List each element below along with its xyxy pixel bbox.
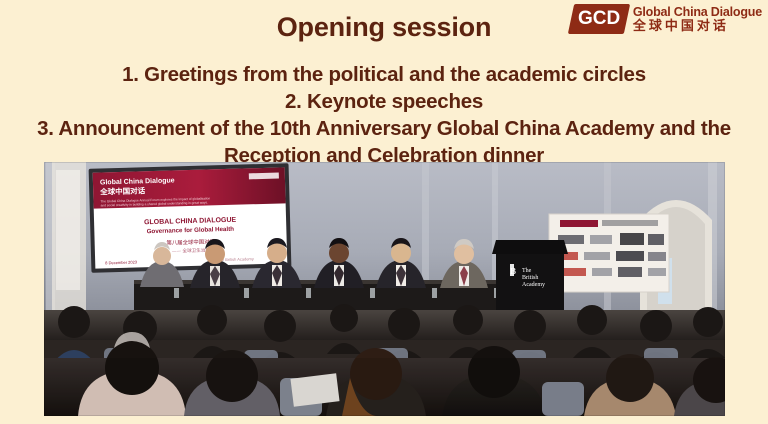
left-window-pane xyxy=(56,170,80,290)
conference-photograph: Global China Dialogue 全球中国对话 The Global … xyxy=(44,162,725,416)
agenda-item-2: 2. Keynote speeches xyxy=(0,89,768,116)
agenda-list: 1. Greetings from the political and the … xyxy=(0,62,768,169)
svg-text:The: The xyxy=(522,268,532,274)
photo-scene: Global China Dialogue 全球中国对话 The Global … xyxy=(44,162,725,416)
svg-text:全球中国对话: 全球中国对话 xyxy=(99,185,146,196)
svg-text:8 December 2023: 8 December 2023 xyxy=(105,259,138,265)
projection-screen: Global China Dialogue 全球中国对话 The Global … xyxy=(89,163,292,273)
presentation-slide: GCD Global China Dialogue 全球中国对话 Opening… xyxy=(0,0,768,424)
agenda-item-1: 1. Greetings from the political and the … xyxy=(0,62,768,89)
svg-text:British: British xyxy=(522,275,538,281)
svg-text:Academy: Academy xyxy=(522,282,545,288)
slide-title: Opening session xyxy=(0,12,768,43)
lectern: ʙ The British Academy xyxy=(492,240,568,320)
